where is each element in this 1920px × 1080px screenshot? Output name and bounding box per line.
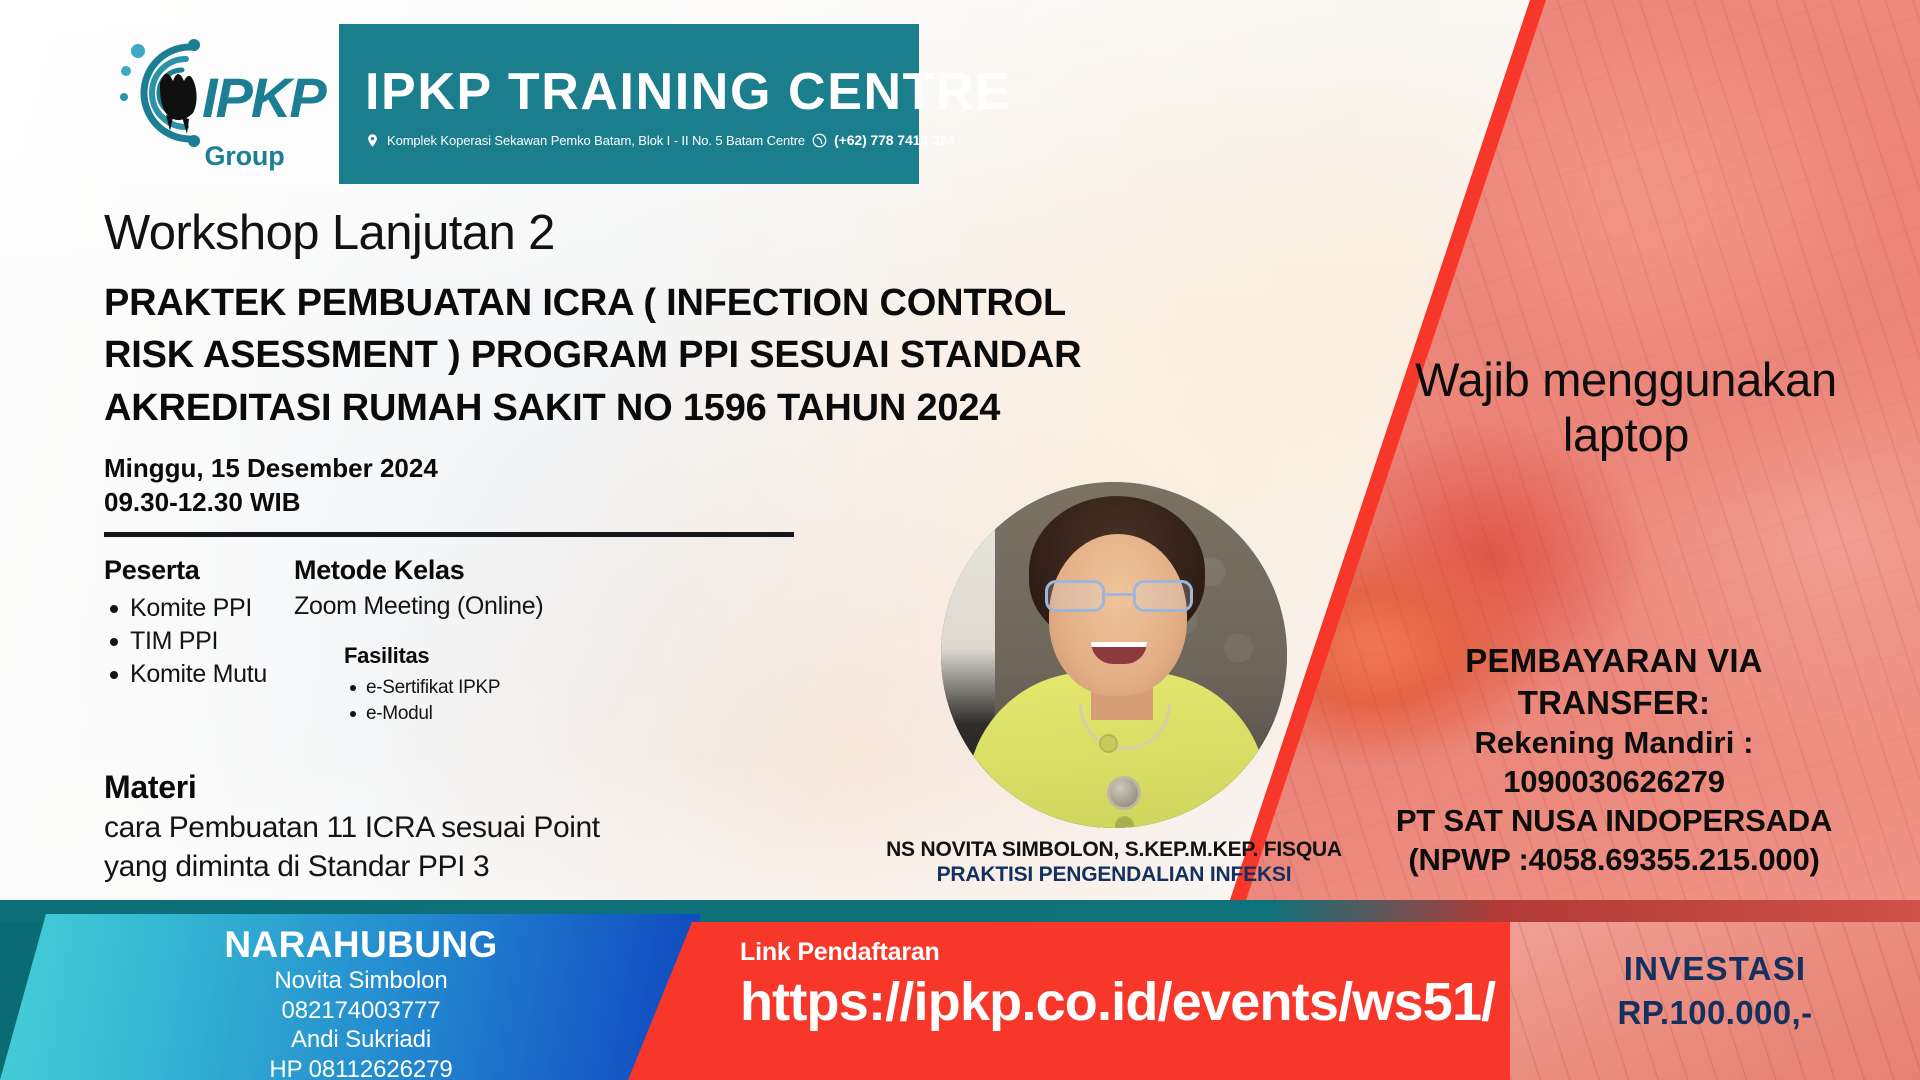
portrait-brooch <box>1107 776 1141 810</box>
page-title: PRAKTEK PEMBUATAN ICRA ( INFECTION CONTR… <box>104 277 1164 434</box>
speaker-name: NS NOVITA SIMBOLON, S.KEP.M.KEP. FISQUA <box>860 838 1368 862</box>
peserta-list: Komite PPI TIM PPI Komite Mutu <box>104 592 294 692</box>
investasi-panel: INVESTASI RP.100.000,- <box>1510 922 1920 1080</box>
banner-address: Komplek Koperasi Sekawan Pemko Batam, Bl… <box>387 133 805 148</box>
svg-text:IPKP: IPKP <box>202 66 327 129</box>
phone-icon <box>812 133 827 148</box>
bank-account-label: Rekening Mandiri : <box>1314 723 1914 762</box>
investasi-label: INVESTASI <box>1510 950 1920 988</box>
portrait-face <box>1049 534 1187 696</box>
fasilitas-block: Fasilitas e-Sertifikat IPKP e-Modul <box>344 643 724 727</box>
location-pin-icon <box>365 133 380 148</box>
contact-name-2: Andi Sukriadi <box>22 1025 700 1055</box>
glasses-left-lens <box>1045 580 1105 612</box>
registration-link-url[interactable]: https://ipkp.co.id/events/ws51/ <box>740 971 1632 1033</box>
ipkp-logo-box: IPKP Group <box>104 24 339 184</box>
glasses-right-lens <box>1133 580 1193 612</box>
footer: NARAHUBUNG Novita Simbolon 082174003777 … <box>0 900 1920 1080</box>
banner-contact-row: Komplek Koperasi Sekawan Pemko Batam, Bl… <box>365 132 909 148</box>
portrait-button <box>1117 818 1132 828</box>
speaker-role: PRAKTISI PENGENDALIAN INFEKSI <box>860 863 1368 887</box>
header-logo-banner: IPKP Group IPKP TRAINING CENTRE Komplek … <box>104 24 919 184</box>
metode-value: Zoom Meeting (Online) <box>294 592 724 621</box>
list-item: Komite PPI <box>104 592 294 625</box>
fasilitas-heading: Fasilitas <box>344 643 724 669</box>
banner-phone: (+62) 778 7413 324 <box>834 132 955 148</box>
portrait-glasses-icon <box>1045 580 1193 612</box>
portrait-button <box>1101 736 1116 751</box>
metode-column: Metode Kelas Zoom Meeting (Online) Fasil… <box>294 555 724 727</box>
contact-phone-2[interactable]: HP 08112626279 <box>22 1055 700 1080</box>
payment-heading-line-2: TRANSFER: <box>1314 682 1914 724</box>
npwp-number: (NPWP :4058.69355.215.000) <box>1314 840 1914 879</box>
banner-title: IPKP TRAINING CENTRE <box>365 66 909 118</box>
speaker-portrait-photo <box>941 482 1287 828</box>
peserta-heading: Peserta <box>104 555 294 586</box>
narahubung-panel: NARAHUBUNG Novita Simbolon 082174003777 … <box>0 914 700 1080</box>
list-item: TIM PPI <box>104 625 294 658</box>
registration-link-label: Link Pendaftaran <box>740 938 1632 967</box>
training-centre-banner: IPKP TRAINING CENTRE Komplek Koperasi Se… <box>339 24 919 184</box>
horizontal-divider <box>104 532 794 537</box>
laptop-note-line-2: laptop <box>1346 407 1906 462</box>
company-name: PT SAT NUSA INDOPERSADA <box>1314 801 1914 840</box>
laptop-note-line-1: Wajib menggunakan <box>1346 352 1906 407</box>
payment-heading-line-1: PEMBAYARAN VIA <box>1314 640 1914 682</box>
glasses-bridge <box>1105 593 1133 596</box>
fasilitas-list: e-Sertifikat IPKP e-Modul <box>344 675 724 727</box>
speaker-block: NS NOVITA SIMBOLON, S.KEP.M.KEP. FISQUA … <box>941 482 1368 887</box>
bank-account-number: 1090030626279 <box>1314 762 1914 801</box>
list-item: e-Modul <box>344 701 724 727</box>
payment-info-block: PEMBAYARAN VIA TRANSFER: Rekening Mandir… <box>1314 640 1914 879</box>
narahubung-heading: NARAHUBUNG <box>22 924 700 966</box>
laptop-requirement-note: Wajib menggunakan laptop <box>1346 352 1906 463</box>
registration-link-panel: Link Pendaftaran https://ipkp.co.id/even… <box>628 922 1632 1080</box>
contact-phone-1[interactable]: 082174003777 <box>22 996 700 1026</box>
peserta-column: Peserta Komite PPI TIM PPI Komite Mutu <box>104 555 294 727</box>
speaker-caption: NS NOVITA SIMBOLON, S.KEP.M.KEP. FISQUA … <box>860 838 1368 887</box>
ipkp-circular-logo-icon: IPKP <box>116 37 328 149</box>
contact-name-1: Novita Simbolon <box>22 966 700 996</box>
metode-heading: Metode Kelas <box>294 555 724 586</box>
workshop-kicker: Workshop Lanjutan 2 <box>104 205 1164 261</box>
list-item: Komite Mutu <box>104 658 294 691</box>
list-item: e-Sertifikat IPKP <box>344 675 724 701</box>
investasi-price: RP.100.000,- <box>1510 994 1920 1032</box>
